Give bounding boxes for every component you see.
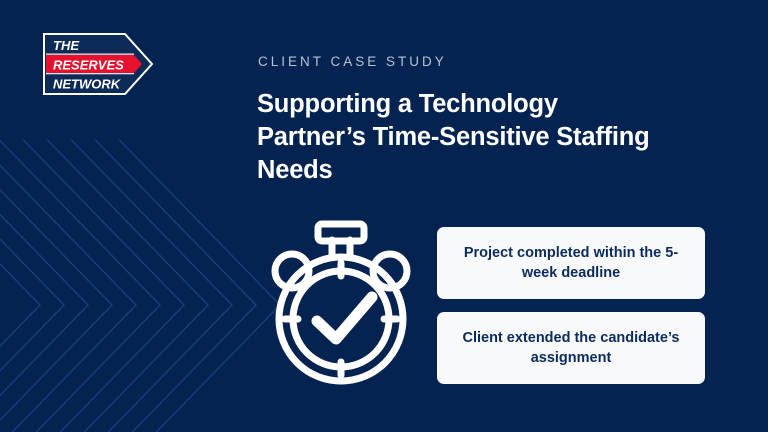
logo-line-1: THE xyxy=(53,38,79,53)
results-card-list: Project completed within the 5-week dead… xyxy=(437,227,705,384)
eyebrow-label: CLIENT CASE STUDY xyxy=(258,54,447,69)
logo-line-2: RESERVES xyxy=(53,58,124,73)
logo-line-3: NETWORK xyxy=(53,77,122,92)
stopwatch-check-icon xyxy=(262,218,420,390)
result-card: Client extended the candidate’s assignme… xyxy=(437,312,705,384)
chevron-pattern xyxy=(0,140,280,432)
result-card-text: Client extended the candidate’s assignme… xyxy=(455,328,687,368)
page-title: Supporting a Technology Partner’s Time-S… xyxy=(257,88,657,187)
result-card: Project completed within the 5-week dead… xyxy=(437,227,705,299)
result-card-text: Project completed within the 5-week dead… xyxy=(455,243,687,283)
case-study-slide: THE RESERVES NETWORK CLIENT CASE STUDY S… xyxy=(0,0,768,432)
the-reserves-network-logo[interactable]: THE RESERVES NETWORK xyxy=(43,33,153,95)
